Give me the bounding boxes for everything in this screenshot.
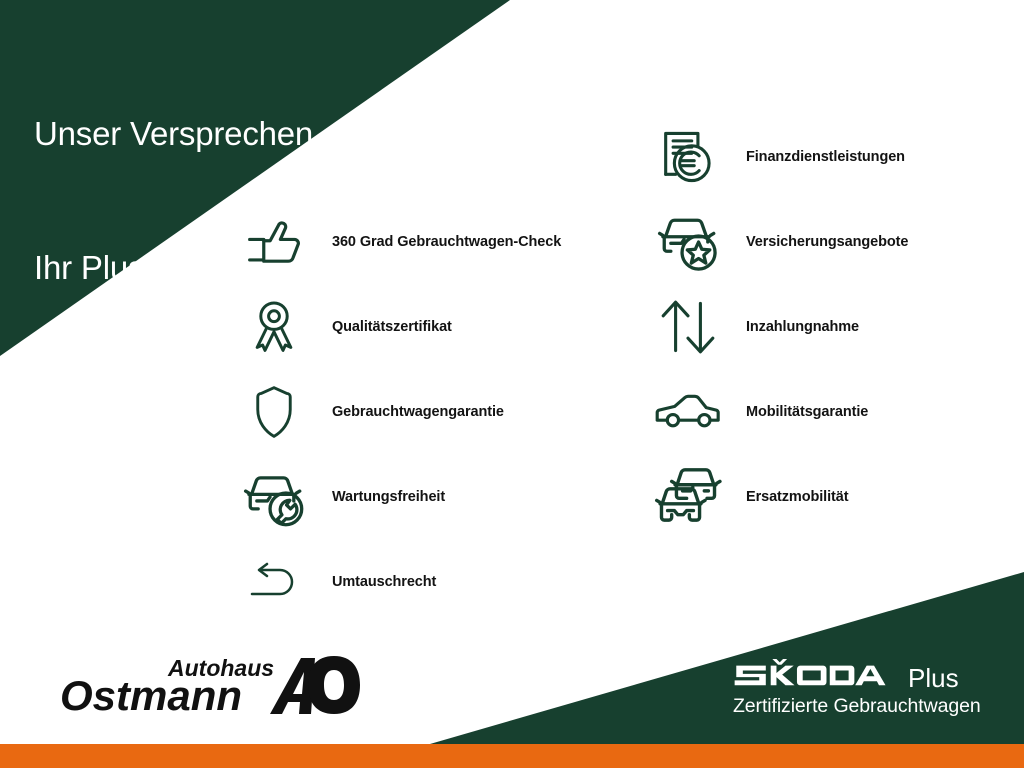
thumbs-up-icon	[236, 206, 312, 278]
dealer-logo-monogram-icon	[270, 656, 360, 714]
up-down-arrows-icon	[650, 291, 726, 363]
feature-item-quality-certificate: Qualitätszertifikat	[236, 287, 561, 367]
feature-label: Qualitätszertifikat	[332, 319, 452, 335]
feature-item-insurance-offers: Versicherungsangebote	[650, 202, 908, 282]
two-cars-icon	[650, 461, 726, 533]
feature-item-financial-services: Finanzdienstleistungen	[650, 117, 908, 197]
dealer-logo-main-word: Ostmann	[60, 672, 242, 719]
feature-item-replacement-mobility: Ersatzmobilität	[650, 457, 908, 537]
car-side-icon	[650, 376, 726, 448]
feature-label: Mobilitätsgarantie	[746, 404, 868, 420]
feature-item-warranty: Gebrauchtwagengarantie	[236, 372, 561, 452]
document-euro-icon	[650, 121, 726, 193]
car-star-icon	[650, 206, 726, 278]
feature-label: Wartungsfreiheit	[332, 489, 445, 505]
award-rosette-icon	[236, 291, 312, 363]
skoda-subtitle: Zertifizierte Gebrauchtwagen	[733, 695, 981, 718]
feature-list-right: Finanzdienstleistungen Versicherungsange…	[650, 117, 908, 542]
feature-label: Umtauschrecht	[332, 574, 436, 590]
feature-item-360-check: 360 Grad Gebrauchtwagen-Check	[236, 202, 561, 282]
promo-banner: Unser Versprechen. Ihr Plus. 360 Grad Ge…	[0, 0, 1024, 768]
feature-item-maintenance-free: Wartungsfreiheit	[236, 457, 561, 537]
feature-item-mobility-guarantee: Mobilitätsgarantie	[650, 372, 908, 452]
orange-accent-bar	[0, 744, 1024, 768]
headline-line-1: Unser Versprechen.	[34, 112, 322, 157]
feature-item-return-right: Umtauschrecht	[236, 542, 561, 622]
feature-item-trade-in: Inzahlungnahme	[650, 287, 908, 367]
skoda-wordmark	[733, 659, 897, 687]
feature-label: Ersatzmobilität	[746, 489, 848, 505]
dealer-logo-autohaus-ostmann: Autohaus Ostmann	[58, 650, 368, 720]
feature-list-left: 360 Grad Gebrauchtwagen-Check Qualitätsz…	[236, 202, 561, 627]
shield-icon	[236, 376, 312, 448]
car-wrench-icon	[236, 461, 312, 533]
feature-label: 360 Grad Gebrauchtwagen-Check	[332, 234, 561, 250]
skoda-plus-logo: Plus Zertifizierte Gebrauchtwagen	[733, 659, 981, 718]
feature-label: Inzahlungnahme	[746, 319, 859, 335]
feature-label: Finanzdienstleistungen	[746, 149, 905, 165]
skoda-plus-word: Plus	[908, 665, 959, 691]
feature-label: Gebrauchtwagengarantie	[332, 404, 504, 420]
return-arrow-icon	[236, 546, 312, 618]
feature-label: Versicherungsangebote	[746, 234, 908, 250]
